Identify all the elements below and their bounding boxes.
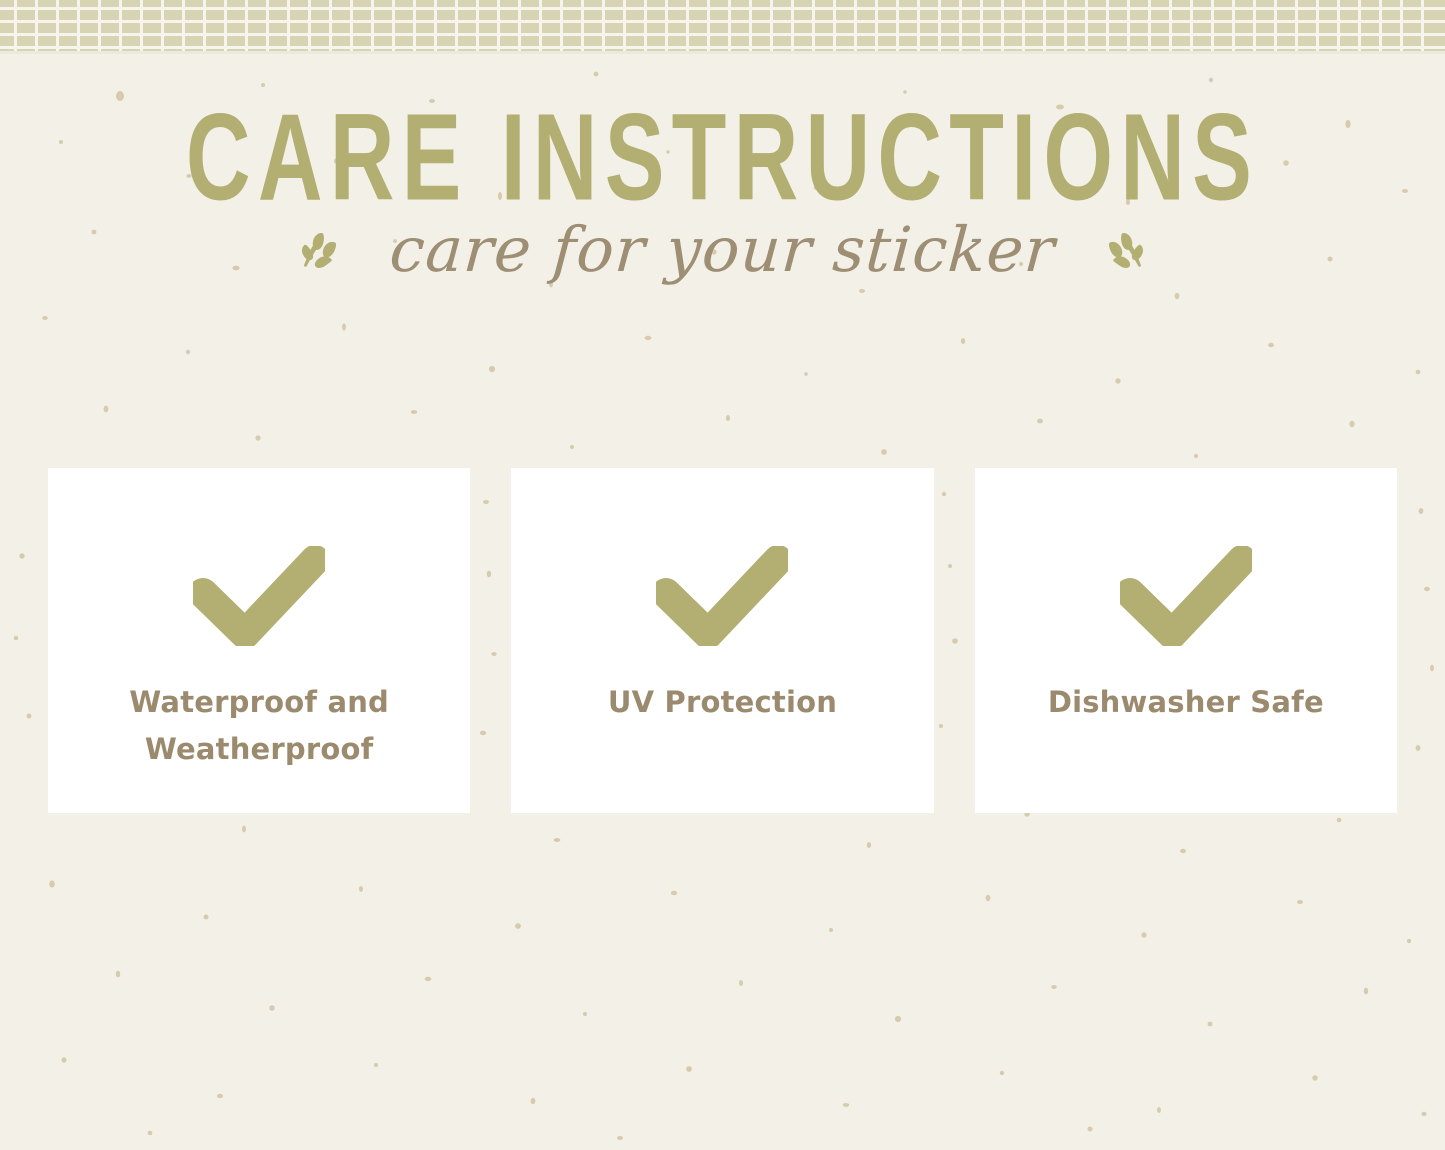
feature-card: Dishwasher Safe bbox=[975, 468, 1397, 813]
feature-card-list: Waterproof and Weatherproof UV Protectio… bbox=[48, 468, 1397, 813]
top-grid-strip bbox=[0, 0, 1445, 53]
subtitle-row: care for your sticker bbox=[0, 219, 1445, 281]
leaf-sprig-icon bbox=[1097, 222, 1153, 278]
page-title: CARE INSTRUCTIONS bbox=[145, 53, 1301, 209]
feature-card-label: UV Protection bbox=[541, 679, 904, 726]
checkmark-icon bbox=[1120, 546, 1252, 646]
feature-card-label: Dishwasher Safe bbox=[1004, 679, 1367, 726]
leaf-sprig-icon bbox=[292, 222, 348, 278]
feature-card: UV Protection bbox=[511, 468, 933, 813]
care-instructions-page: CARE INSTRUCTIONS care for your sticker bbox=[0, 0, 1445, 1150]
checkmark-icon bbox=[193, 546, 325, 646]
feature-card-label: Waterproof and Weatherproof bbox=[78, 679, 441, 773]
checkmark-icon bbox=[656, 546, 788, 646]
page-subtitle: care for your sticker bbox=[388, 219, 1058, 281]
header: CARE INSTRUCTIONS care for your sticker bbox=[0, 53, 1445, 281]
feature-card: Waterproof and Weatherproof bbox=[48, 468, 470, 813]
